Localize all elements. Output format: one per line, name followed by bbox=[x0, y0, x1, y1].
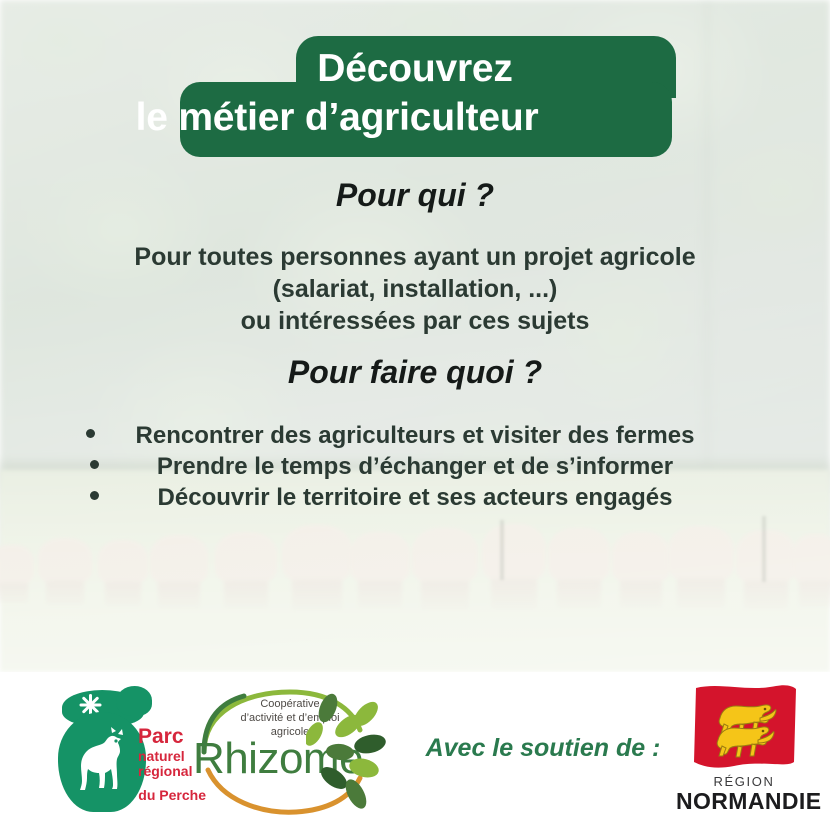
list-item: Rencontrer des agriculteurs et visiter d… bbox=[0, 420, 830, 451]
question-pour-qui: Pour qui ? bbox=[0, 177, 830, 214]
answer-pour-qui: Pour toutes personnes ayant un projet ag… bbox=[0, 241, 830, 337]
region-normandie-logo: RÉGION NORMANDIE bbox=[676, 682, 812, 822]
normandie-line-2: NORMANDIE bbox=[676, 788, 812, 815]
answer-line-2: (salariat, installation, ...) bbox=[0, 273, 830, 305]
banner-title-line1: Découvrez bbox=[0, 49, 830, 88]
support-label: Avec le soutien de : bbox=[398, 734, 688, 763]
rhizome-logo: Coopérative d’activité et d’emploi agric… bbox=[182, 678, 394, 826]
answer-line-3: ou intéressées par ces sujets bbox=[0, 305, 830, 337]
list-item: Prendre le temps d’échanger et de s’info… bbox=[0, 451, 830, 482]
list-item: Découvrir le territoire et ses acteurs e… bbox=[0, 482, 830, 513]
parc-naturel-regional-du-perche-logo: Parc naturel régional du Perche bbox=[30, 680, 190, 825]
banner-title-line2: le métier d’agriculteur bbox=[0, 98, 752, 137]
bullet-text: Découvrir le territoire et ses acteurs e… bbox=[158, 482, 673, 513]
question-pour-faire-quoi: Pour faire quoi ? bbox=[0, 354, 830, 391]
bullet-text: Prendre le temps d’échanger et de s’info… bbox=[157, 451, 673, 482]
activity-bullet-list: Rencontrer des agriculteurs et visiter d… bbox=[0, 420, 830, 513]
tree-canopy-small-icon bbox=[116, 686, 152, 716]
poster: Découvrez le métier d’agriculteur Pour q… bbox=[0, 0, 830, 830]
answer-line-1: Pour toutes personnes ayant un projet ag… bbox=[0, 241, 830, 273]
normandie-flag-icon bbox=[690, 682, 800, 770]
bullet-dot-icon bbox=[90, 460, 99, 469]
footer-logo-bar: Parc naturel régional du Perche Coopérat… bbox=[0, 672, 830, 830]
bullet-dot-icon bbox=[86, 429, 95, 438]
normandie-line-1: RÉGION bbox=[676, 774, 812, 789]
bullet-text: Rencontrer des agriculteurs et visiter d… bbox=[136, 420, 695, 451]
title-banner: Découvrez le métier d’agriculteur bbox=[0, 0, 830, 172]
rhizome-leaves-icon bbox=[306, 692, 398, 812]
bullet-dot-icon bbox=[90, 491, 99, 500]
